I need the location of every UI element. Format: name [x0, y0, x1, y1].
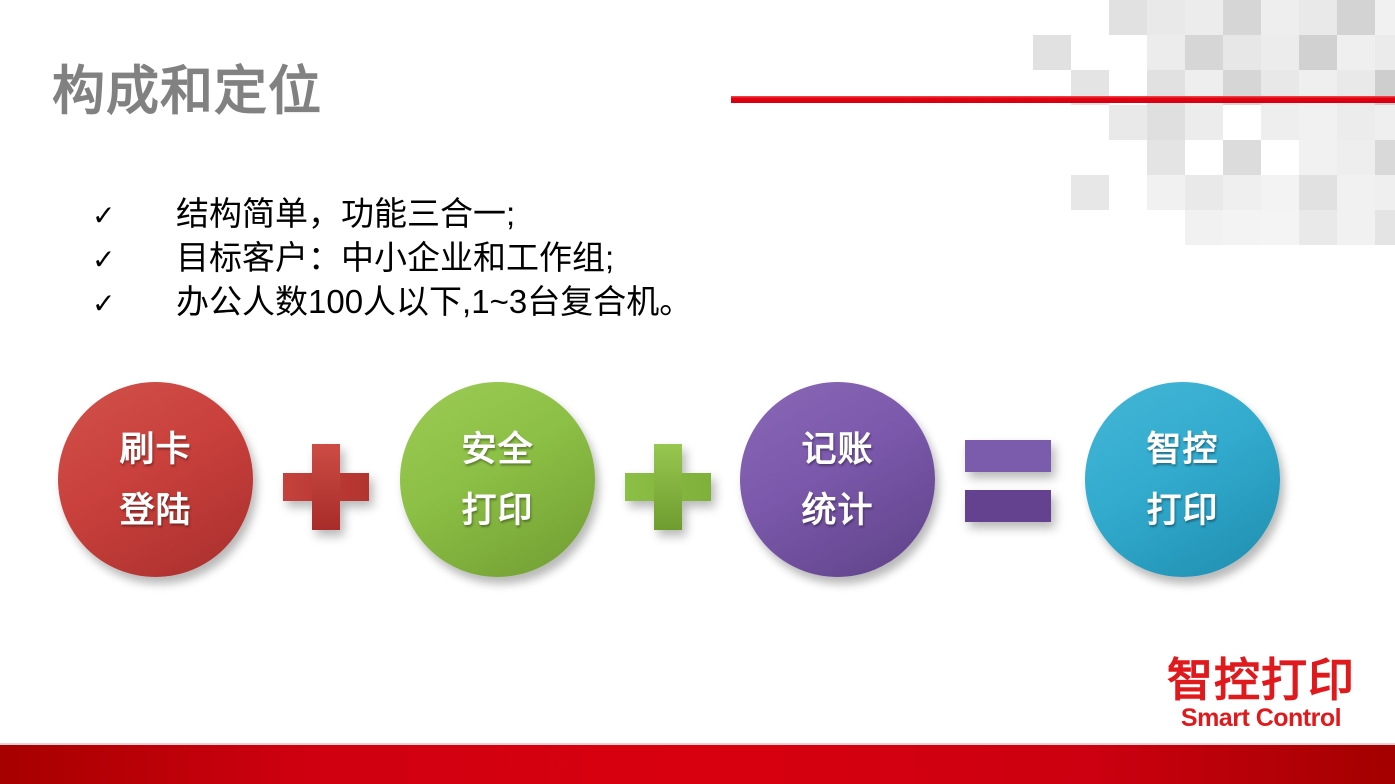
equation-diagram: 刷卡 登陆 安全 打印 记账 统计 智控 打印 [40, 382, 1360, 597]
mosaic-tile [1299, 0, 1337, 35]
mosaic-tile [1147, 35, 1185, 70]
mosaic-tile [1337, 175, 1375, 210]
mosaic-tile [1223, 35, 1261, 70]
diagram-node-secure-print: 安全 打印 [400, 382, 595, 577]
mosaic-tile [1337, 35, 1375, 70]
check-icon: ✓ [92, 197, 176, 234]
mosaic-decoration [995, 0, 1395, 232]
mosaic-tile [1223, 140, 1261, 175]
title-accent-line [731, 96, 1395, 103]
mosaic-tile [1223, 0, 1261, 35]
list-item-label: 结构简单，功能三合一; [176, 192, 515, 236]
node-label-line1: 记账 [801, 432, 873, 467]
brand-logo: 智控打印 Smart Control [1167, 657, 1355, 733]
bullet-list: ✓ 结构简单，功能三合一; ✓ 目标客户：中小企业和工作组; ✓ 办公人数100… [92, 192, 692, 324]
mosaic-tile [1375, 210, 1395, 245]
mosaic-tile [1185, 35, 1223, 70]
node-label-line1: 刷卡 [119, 432, 191, 467]
diagram-node-smart-control-print: 智控 打印 [1085, 382, 1280, 577]
mosaic-tile [1337, 210, 1375, 245]
mosaic-tile [1375, 105, 1395, 140]
slide-canvas: 构成和定位 ✓ 结构简单，功能三合一; ✓ 目标客户：中小企业和工作组; ✓ 办… [0, 0, 1395, 784]
brand-logo-chinese: 智控打印 [1167, 657, 1355, 703]
list-item: ✓ 结构简单，功能三合一; [92, 192, 692, 236]
mosaic-tile [1261, 0, 1299, 35]
list-item: ✓ 办公人数100人以下,1~3台复合机。 [92, 280, 692, 324]
mosaic-tile [1299, 210, 1337, 245]
mosaic-tile [1299, 140, 1337, 175]
mosaic-tile [1109, 0, 1147, 35]
mosaic-tile [1033, 35, 1071, 70]
mosaic-tile [1299, 105, 1337, 140]
equals-icon-bar-top [965, 440, 1051, 472]
mosaic-tile [1375, 35, 1395, 70]
mosaic-tile [1071, 175, 1109, 210]
mosaic-tile [1185, 0, 1223, 35]
mosaic-tile [1299, 175, 1337, 210]
mosaic-tile [1185, 210, 1223, 245]
diagram-node-accounting-stats: 记账 统计 [740, 382, 935, 577]
node-label-line2: 统计 [801, 493, 873, 528]
mosaic-tile [1185, 175, 1223, 210]
mosaic-tile [1375, 175, 1395, 210]
mosaic-tile [1147, 0, 1185, 35]
mosaic-tile [1147, 175, 1185, 210]
mosaic-tile [1261, 105, 1299, 140]
check-icon: ✓ [92, 285, 176, 322]
list-item: ✓ 目标客户：中小企业和工作组; [92, 236, 692, 280]
mosaic-tile [1375, 140, 1395, 175]
brand-logo-english: Smart Control [1167, 705, 1355, 733]
equals-icon-bar-bottom [965, 490, 1051, 522]
mosaic-tile [1375, 0, 1395, 35]
plus-icon [283, 444, 369, 530]
plus-icon [625, 444, 711, 530]
mosaic-tile [1147, 140, 1185, 175]
list-item-label: 目标客户：中小企业和工作组; [176, 236, 614, 280]
diagram-node-card-login: 刷卡 登陆 [58, 382, 253, 577]
node-label-line2: 打印 [461, 493, 533, 528]
node-label-line1: 智控 [1146, 432, 1218, 467]
check-icon: ✓ [92, 241, 176, 278]
mosaic-tile [1261, 35, 1299, 70]
mosaic-tile [1337, 140, 1375, 175]
node-label-line2: 登陆 [119, 493, 191, 528]
mosaic-tile [1223, 210, 1261, 245]
plus-icon-bar-vertical [312, 444, 340, 530]
mosaic-tile [1337, 0, 1375, 35]
node-label-line1: 安全 [461, 432, 533, 467]
mosaic-tile [1147, 105, 1185, 140]
mosaic-tile [1299, 35, 1337, 70]
list-item-label: 办公人数100人以下,1~3台复合机。 [176, 280, 692, 324]
plus-icon-bar-vertical [654, 444, 682, 530]
mosaic-tile [1223, 175, 1261, 210]
node-label-line2: 打印 [1146, 493, 1218, 528]
equals-icon [965, 440, 1051, 532]
mosaic-tile [1185, 105, 1223, 140]
mosaic-tile [1337, 105, 1375, 140]
mosaic-tile [1261, 210, 1299, 245]
mosaic-tile [1109, 105, 1147, 140]
page-title: 构成和定位 [52, 63, 322, 121]
mosaic-tile [1261, 175, 1299, 210]
footer-bar [0, 745, 1395, 784]
